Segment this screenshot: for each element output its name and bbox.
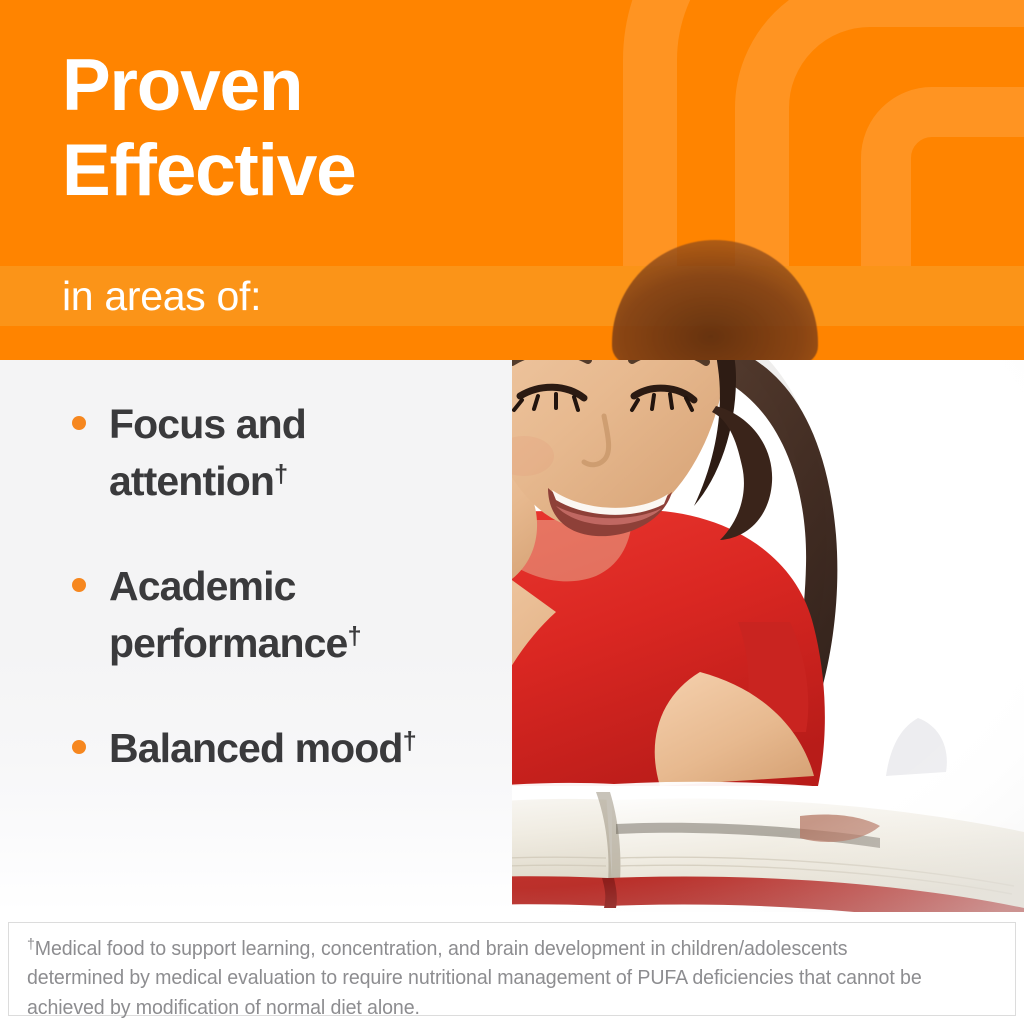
bullet-dot-icon xyxy=(72,740,86,754)
photo-girl-reading xyxy=(512,360,1024,912)
footnote-dagger-icon: † xyxy=(27,937,35,953)
benefit-label-3: Balanced mood† xyxy=(109,720,416,777)
list-item: Balanced mood† xyxy=(72,720,512,777)
list-item: Academic performance† xyxy=(72,558,512,673)
bullet-dot-icon xyxy=(72,416,86,430)
benefit-label-1: Focus and attention† xyxy=(109,396,306,511)
photo-head-overlap xyxy=(612,240,818,360)
bullet-dot-icon xyxy=(72,578,86,592)
page-title: Proven Effective xyxy=(62,44,682,213)
footnote-box: †Medical food to support learning, conce… xyxy=(8,922,1016,1016)
dagger-icon: † xyxy=(403,727,416,755)
dagger-icon: † xyxy=(347,622,360,650)
header-banner: Proven Effective in areas of: xyxy=(0,0,1024,360)
footnote-text: †Medical food to support learning, conce… xyxy=(27,934,939,1022)
list-item: Focus and attention† xyxy=(72,396,512,511)
dagger-icon: † xyxy=(274,460,287,488)
promotional-poster: Proven Effective in areas of: xyxy=(0,0,1024,1024)
benefit-label-2: Academic performance† xyxy=(109,558,361,673)
subhead-text: in areas of: xyxy=(62,266,261,326)
